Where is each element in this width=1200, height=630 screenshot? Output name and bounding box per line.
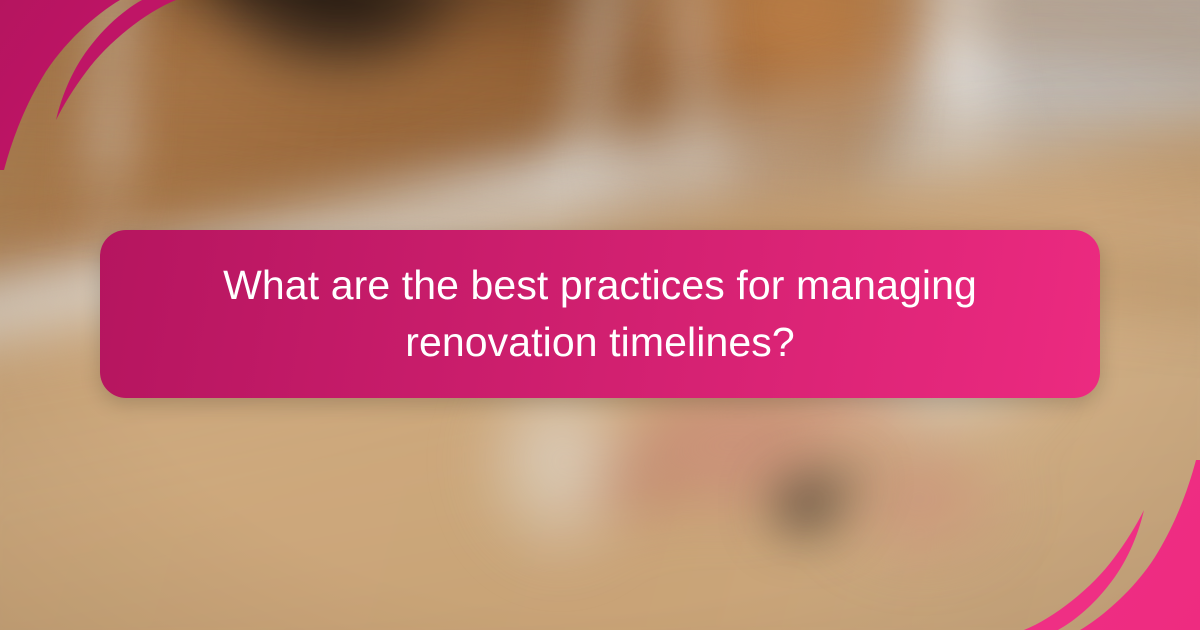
- question-text: What are the best practices for managing…: [170, 257, 1030, 371]
- question-banner: What are the best practices for managing…: [100, 230, 1100, 398]
- share-card: What are the best practices for managing…: [0, 0, 1200, 630]
